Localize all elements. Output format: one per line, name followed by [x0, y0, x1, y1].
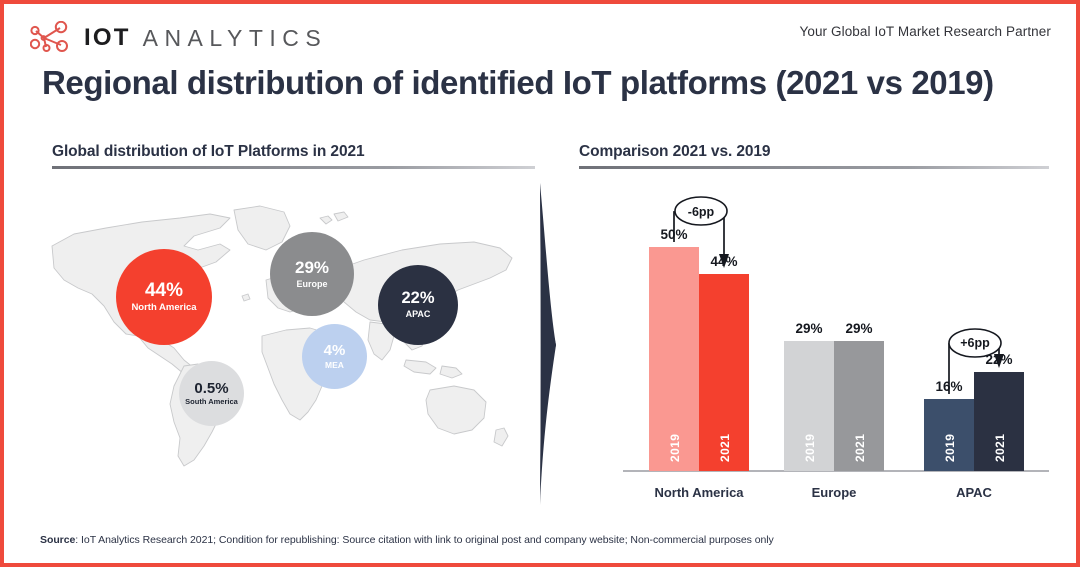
source-note: Source: IoT Analytics Research 2021; Con… [40, 534, 774, 546]
comparison-bar-chart: -6pp +6pp 50% 44% 29% 29% 16% 22% 2019 2… [579, 184, 1054, 504]
bubble-value: 4% [324, 343, 346, 359]
group-label-north-america: North America [634, 485, 764, 500]
group-label-apac: APAC [914, 485, 1034, 500]
slide-canvas: IOT ANALYTICS Your Global IoT Market Res… [0, 0, 1080, 567]
iot-network-logo-icon [30, 21, 74, 55]
left-panel-rule [52, 166, 535, 169]
bubble-value: 22% [401, 290, 434, 307]
map-bubble-europe[interactable]: 29% Europe [270, 232, 354, 316]
logo-text-iot: IOT [84, 26, 131, 50]
value-label-europe-2021: 29% [834, 321, 884, 336]
map-bubble-south-america[interactable]: 0.5% South America [179, 361, 244, 426]
value-label-apac-2021: 22% [974, 352, 1024, 367]
page-title: Regional distribution of identified IoT … [42, 64, 994, 102]
bubble-region: MEA [325, 361, 344, 370]
world-map-chart: 44% North America 29% Europe 22% APAC 4%… [34, 184, 544, 494]
source-label: Source [40, 534, 75, 546]
world-map-outline-icon [34, 184, 544, 494]
value-label-north-america-2019: 50% [649, 227, 699, 242]
bubble-region: South America [185, 398, 238, 406]
bubble-value: 29% [295, 259, 329, 277]
source-body: : IoT Analytics Research 2021; Condition… [75, 534, 773, 546]
value-label-apac-2019: 16% [924, 379, 974, 394]
bar-year-label-europe-2021: 2021 [853, 434, 867, 462]
bubble-region: North America [131, 303, 196, 313]
right-panel-heading: Comparison 2021 vs. 2019 [579, 143, 770, 161]
map-bubble-north-america[interactable]: 44% North America [116, 249, 212, 345]
bar-year-label-apac-2021: 2021 [993, 434, 1007, 462]
right-panel-rule [579, 166, 1049, 169]
bubble-value: 44% [145, 281, 183, 301]
bar-year-label-europe-2019: 2019 [803, 434, 817, 462]
logo-text-analytics: ANALYTICS [143, 27, 328, 50]
panel-divider-leaf-icon [532, 179, 578, 509]
group-label-europe: Europe [774, 485, 894, 500]
bar-year-label-north-america-2021: 2021 [718, 434, 732, 462]
map-bubble-apac[interactable]: 22% APAC [378, 265, 458, 345]
bubble-value: 0.5% [194, 381, 228, 397]
map-bubble-mea[interactable]: 4% MEA [302, 324, 367, 389]
bar-year-label-north-america-2019: 2019 [668, 434, 682, 462]
brand-logo[interactable]: IOT ANALYTICS [30, 20, 327, 56]
bubble-region: Europe [296, 280, 327, 289]
value-label-europe-2019: 29% [784, 321, 834, 336]
annotation-label-apac: +6pp [949, 336, 1001, 350]
value-label-north-america-2021: 44% [699, 254, 749, 269]
left-panel-heading: Global distribution of IoT Platforms in … [52, 143, 365, 161]
bar-year-label-apac-2019: 2019 [943, 434, 957, 462]
bubble-region: APAC [406, 310, 431, 319]
annotation-label-north-america: -6pp [675, 205, 727, 219]
header-tagline: Your Global IoT Market Research Partner [799, 24, 1051, 39]
